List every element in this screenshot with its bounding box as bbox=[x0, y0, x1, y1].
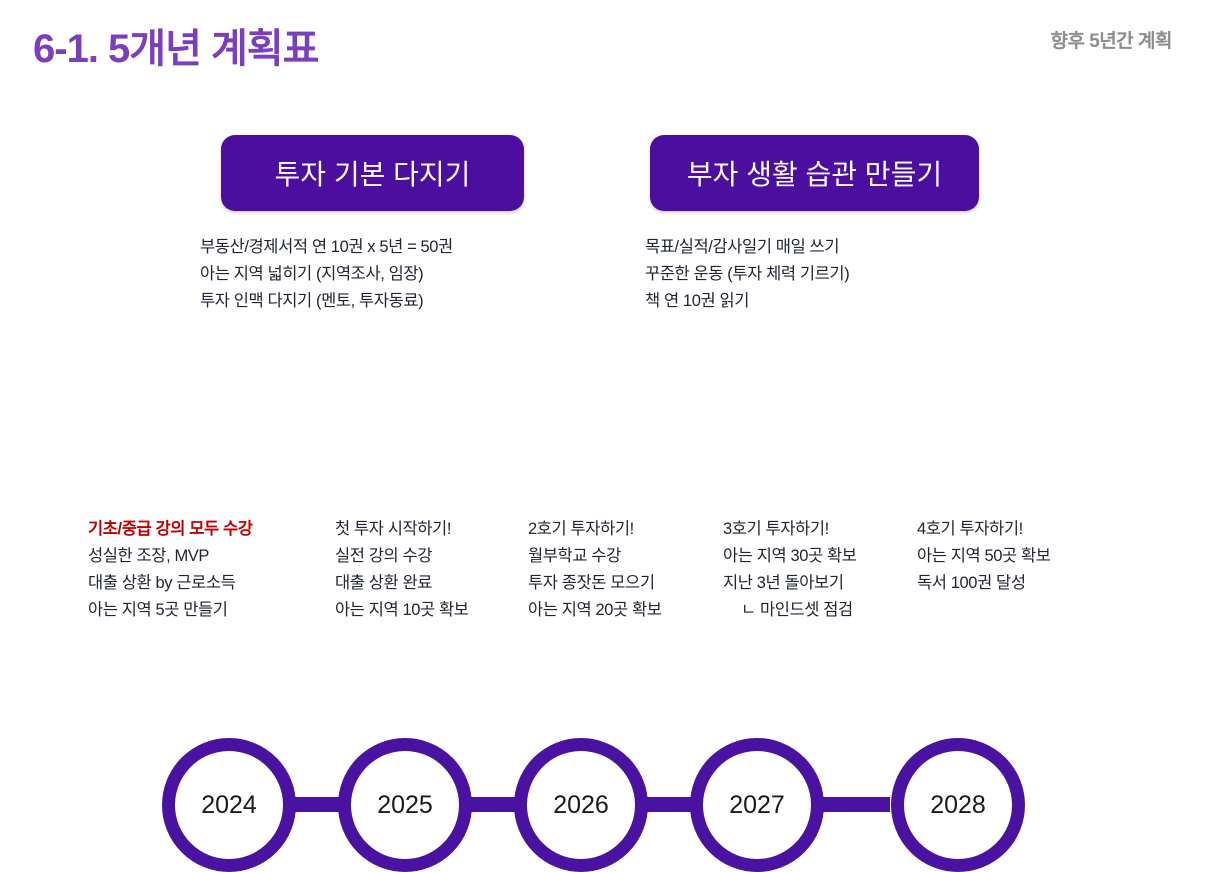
year-line: 대출 상환 by 근로소득 bbox=[88, 570, 253, 597]
year-line: ㄴ 마인드셋 점검 bbox=[723, 597, 857, 624]
year-line: 월부학교 수강 bbox=[528, 543, 662, 570]
year-line: 3호기 투자하기! bbox=[723, 516, 857, 543]
theme-box-investment-basics: 투자 기본 다지기 bbox=[221, 135, 524, 211]
year-line: 기초/중급 강의 모두 수강 bbox=[88, 516, 253, 543]
theme-bullet: 목표/실적/감사일기 매일 쓰기 bbox=[645, 234, 849, 261]
theme-bullet: 꾸준한 운동 (투자 체력 기르기) bbox=[645, 261, 849, 288]
year-line: 실전 강의 수강 bbox=[335, 543, 469, 570]
timeline-node-2025[interactable]: 2025 bbox=[338, 738, 472, 872]
page-title: 6-1. 5개년 계획표 bbox=[33, 16, 318, 74]
year-column-2024: 기초/중급 강의 모두 수강 성실한 조장, MVP 대출 상환 by 근로소득… bbox=[88, 516, 253, 624]
timeline-node-label: 2026 bbox=[553, 791, 609, 820]
year-column-2027: 3호기 투자하기! 아는 지역 30곳 확보 지난 3년 돌아보기 ㄴ 마인드셋… bbox=[723, 516, 857, 624]
year-line: 아는 지역 20곳 확보 bbox=[528, 597, 662, 624]
theme-bullet: 부동산/경제서적 연 10권 x 5년 = 50권 bbox=[200, 234, 453, 261]
year-line: 성실한 조장, MVP bbox=[88, 543, 253, 570]
theme-bullet: 책 연 10권 읽기 bbox=[645, 288, 849, 315]
timeline-node-label: 2027 bbox=[729, 791, 785, 820]
theme-box-rich-habits: 부자 생활 습관 만들기 bbox=[650, 135, 979, 211]
year-line: 2호기 투자하기! bbox=[528, 516, 662, 543]
timeline-node-2027[interactable]: 2027 bbox=[690, 738, 824, 872]
year-line: 아는 지역 30곳 확보 bbox=[723, 543, 857, 570]
timeline-node-label: 2028 bbox=[930, 791, 986, 820]
year-line: 아는 지역 10곳 확보 bbox=[335, 597, 469, 624]
year-line: 4호기 투자하기! bbox=[917, 516, 1051, 543]
timeline-node-label: 2025 bbox=[377, 791, 433, 820]
year-column-2026: 2호기 투자하기! 월부학교 수강 투자 종잣돈 모으기 아는 지역 20곳 확… bbox=[528, 516, 662, 624]
theme-bullets-rich-habits: 목표/실적/감사일기 매일 쓰기 꾸준한 운동 (투자 체력 기르기) 책 연 … bbox=[645, 234, 849, 315]
year-line: 투자 종잣돈 모으기 bbox=[528, 570, 662, 597]
year-line: 첫 투자 시작하기! bbox=[335, 516, 469, 543]
timeline-node-2026[interactable]: 2026 bbox=[514, 738, 648, 872]
year-column-2025: 첫 투자 시작하기! 실전 강의 수강 대출 상환 완료 아는 지역 10곳 확… bbox=[335, 516, 469, 624]
theme-bullets-investment-basics: 부동산/경제서적 연 10권 x 5년 = 50권 아는 지역 넓히기 (지역조… bbox=[200, 234, 453, 315]
theme-bullet: 아는 지역 넓히기 (지역조사, 임장) bbox=[200, 261, 453, 288]
slide-canvas: 6-1. 5개년 계획표 향후 5년간 계획 투자 기본 다지기 부자 생활 습… bbox=[0, 0, 1216, 684]
timeline-node-label: 2024 bbox=[201, 791, 257, 820]
timeline: 2024 2025 2026 2027 2028 bbox=[0, 368, 1216, 508]
year-line: 독서 100권 달성 bbox=[917, 570, 1051, 597]
timeline-node-2024[interactable]: 2024 bbox=[162, 738, 296, 872]
slide-subtitle: 향후 5년간 계획 bbox=[1050, 26, 1172, 53]
year-line: 대출 상환 완료 bbox=[335, 570, 469, 597]
theme-bullet: 투자 인맥 다지기 (멘토, 투자동료) bbox=[200, 288, 453, 315]
timeline-node-2028[interactable]: 2028 bbox=[891, 738, 1025, 872]
year-line: 아는 지역 5곳 만들기 bbox=[88, 597, 253, 624]
year-column-2028: 4호기 투자하기! 아는 지역 50곳 확보 독서 100권 달성 bbox=[917, 516, 1051, 597]
year-line: 아는 지역 50곳 확보 bbox=[917, 543, 1051, 570]
year-line: 지난 3년 돌아보기 bbox=[723, 570, 857, 597]
